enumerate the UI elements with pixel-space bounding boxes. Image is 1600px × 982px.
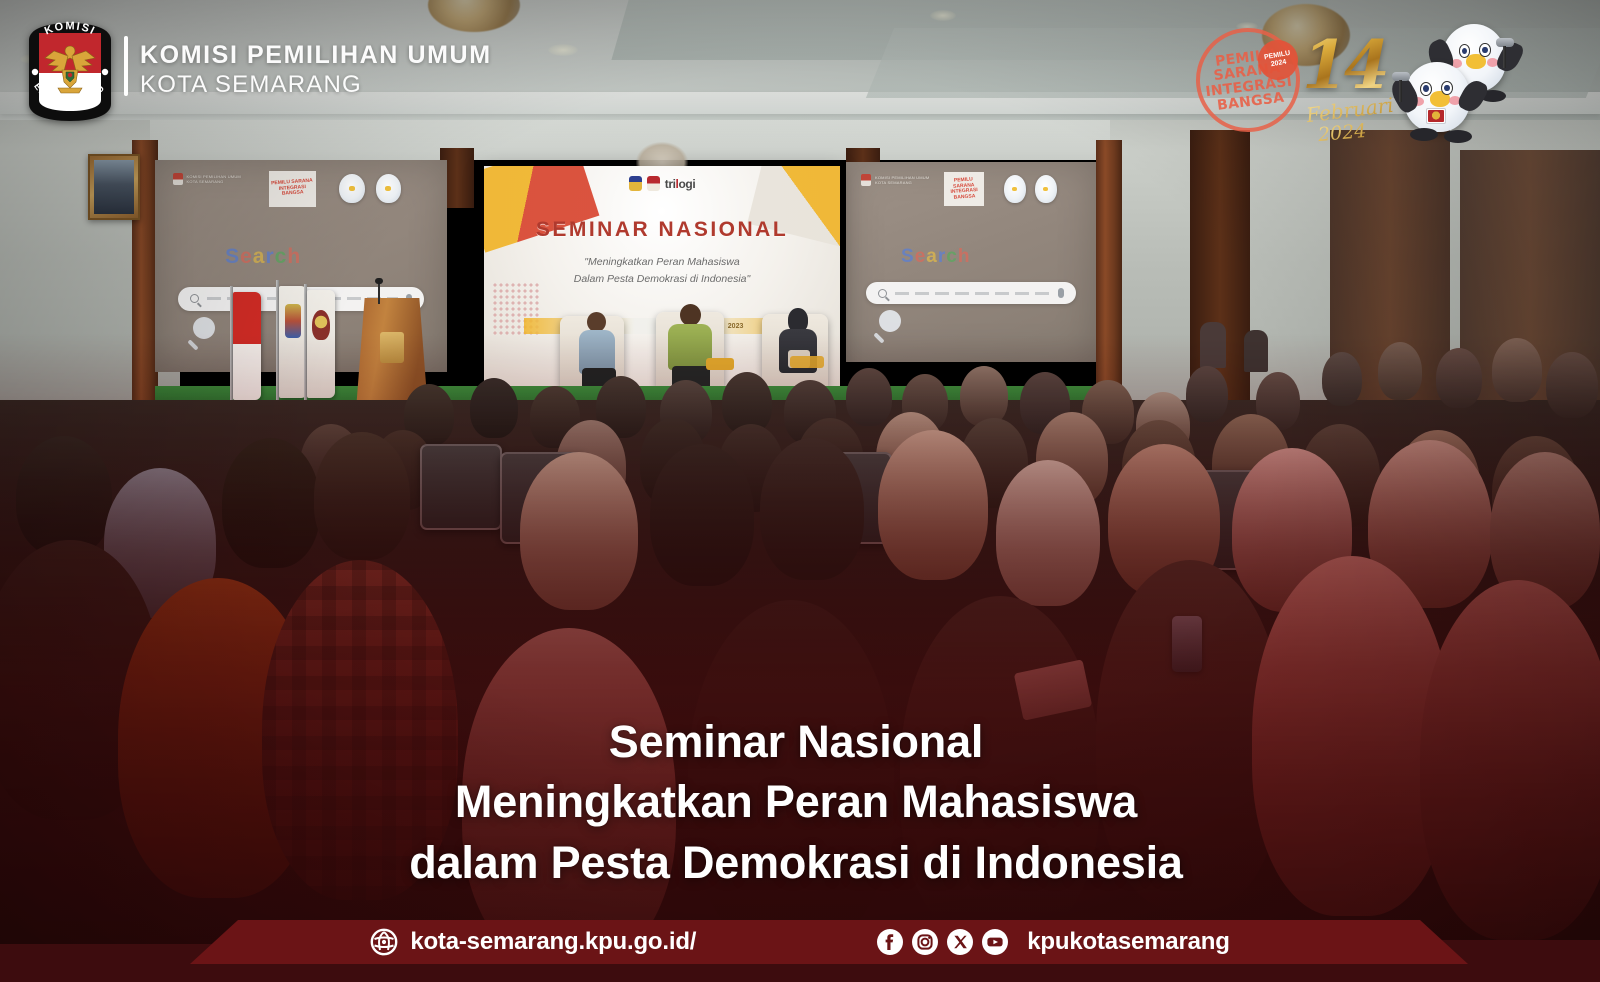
main-title-line-3: dalam Pesta Demokrasi di Indonesia	[0, 833, 1592, 893]
header-title-block: KOMISI PEMILIHAN UMUM KOTA SEMARANG	[140, 42, 492, 100]
pemilu-stamp-badge: PEMILU SARANA INTEGRASI BANGSA	[1190, 22, 1306, 138]
main-title-line-1: Seminar Nasional	[0, 712, 1592, 772]
footer-social-handle: kpukotasemarang	[1027, 928, 1229, 956]
header-line-1: KOMISI PEMILIHAN UMUM	[140, 42, 492, 70]
mascot-kpu-badge	[1426, 108, 1446, 123]
poster-header: KOMISI PEMILIHAN UMUM KOMISI PEMILIHAN U…	[0, 0, 1600, 130]
instagram-icon[interactable]	[911, 928, 939, 956]
mascot-eye	[1459, 44, 1471, 58]
election-mascots	[1390, 18, 1530, 150]
youtube-icon[interactable]	[981, 928, 1009, 956]
header-line-2: KOTA SEMARANG	[140, 70, 492, 100]
mascot-foot	[1410, 128, 1438, 141]
footer-website[interactable]: kota-semarang.kpu.go.id/	[370, 928, 696, 956]
footer-website-text: kota-semarang.kpu.go.id/	[410, 928, 696, 956]
main-title-line-2: Meningkatkan Peran Mahasiswa	[0, 772, 1592, 832]
mascot-foot	[1444, 130, 1472, 143]
mascot-eye	[1441, 81, 1453, 95]
footer-content: kota-semarang.kpu.go.id/	[0, 920, 1600, 964]
mascot-eye	[1479, 43, 1491, 57]
main-title: Seminar Nasional Meningkatkan Peran Maha…	[0, 712, 1600, 893]
facebook-icon[interactable]	[876, 928, 904, 956]
date-day: 14	[1302, 26, 1386, 104]
globe-icon	[370, 928, 398, 956]
x-twitter-icon[interactable]	[946, 928, 974, 956]
poster-canvas: KOMISI PEMILIHAN UMUM KOTA SEMARANG PEMI…	[0, 0, 1600, 982]
kpu-logo: KOMISI PEMILIHAN UMUM	[22, 20, 118, 124]
social-icon-group	[876, 928, 1009, 956]
footer: kota-semarang.kpu.go.id/	[0, 920, 1600, 982]
footer-bottom-bar	[0, 964, 1600, 982]
header-divider	[124, 36, 128, 96]
mascot-eye	[1420, 82, 1432, 96]
date-year: 2024	[1317, 120, 1367, 146]
pemilu-stamp-dot-text: PEMILU 2024	[1257, 49, 1299, 71]
footer-social[interactable]: kpukotasemarang	[876, 928, 1229, 956]
